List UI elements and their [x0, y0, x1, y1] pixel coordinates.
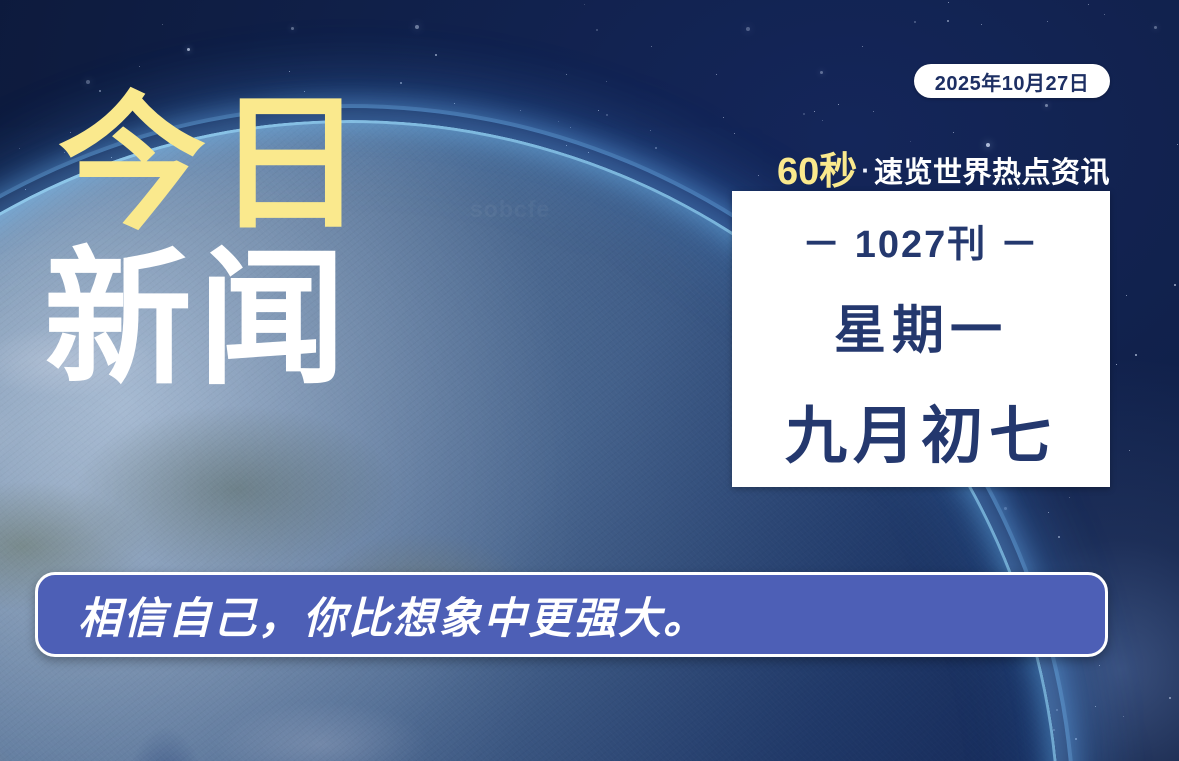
- date-badge-label: 2025年10月27日: [935, 67, 1089, 96]
- headline-line-1: 今日: [58, 92, 374, 237]
- tagline-separator: ·: [861, 155, 870, 185]
- tagline-seconds: 60秒: [777, 151, 857, 193]
- tagline: 60秒·速览世界热点资讯: [740, 140, 1110, 195]
- page-title: 今日 新闻: [58, 92, 374, 392]
- date-badge: 2025年10月27日: [914, 64, 1110, 98]
- lunar-date-label: 九月初七: [785, 385, 1057, 475]
- issue-number: － 1027刊 －: [802, 213, 1040, 268]
- weekday-label: 星期一: [834, 288, 1008, 363]
- quote-banner: 相信自己，你比想象中更强大。: [35, 572, 1108, 657]
- tagline-text: 速览世界热点资讯: [874, 157, 1110, 189]
- headline-line-2: 新闻: [44, 247, 374, 392]
- watermark-text: sobcfe: [470, 196, 550, 223]
- news-poster: sobcfe 今日 新闻 2025年10月27日 60秒·速览世界热点资讯 － …: [0, 0, 1179, 761]
- issue-info-card: － 1027刊 － 星期一 九月初七: [732, 191, 1110, 487]
- quote-text: 相信自己，你比想象中更强大。: [78, 584, 708, 646]
